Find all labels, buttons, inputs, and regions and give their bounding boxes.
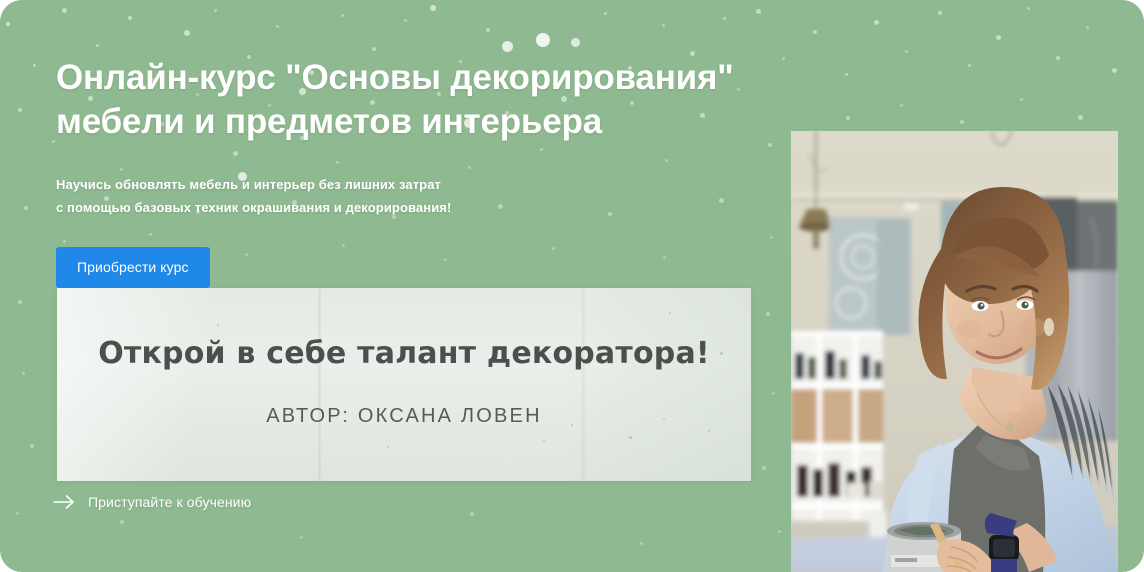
hero-subtitle-line-1: Научись обновлять мебель и интерьер без … — [56, 174, 751, 197]
start-learning-link[interactable]: Приступайте к обучению — [53, 494, 251, 510]
hero-subtitle-line-2: с помощью базовых техник окрашивания и д… — [56, 197, 751, 220]
arrow-right-icon — [53, 494, 75, 510]
instructor-portrait-photo — [791, 131, 1118, 572]
instructor-photo — [791, 131, 1118, 572]
buy-course-button[interactable]: Приобрести курс — [56, 247, 210, 288]
start-learning-label: Приступайте к обучению — [88, 494, 251, 510]
landing-hero-card: Онлайн-курс "Основы декорирования" мебел… — [0, 0, 1144, 572]
hero-content-column: Онлайн-курс "Основы декорирования" мебел… — [0, 0, 791, 572]
hero-subtitle: Научись обновлять мебель и интерьер без … — [56, 174, 751, 220]
page-title: Онлайн-курс "Основы декорирования" мебел… — [56, 56, 751, 144]
